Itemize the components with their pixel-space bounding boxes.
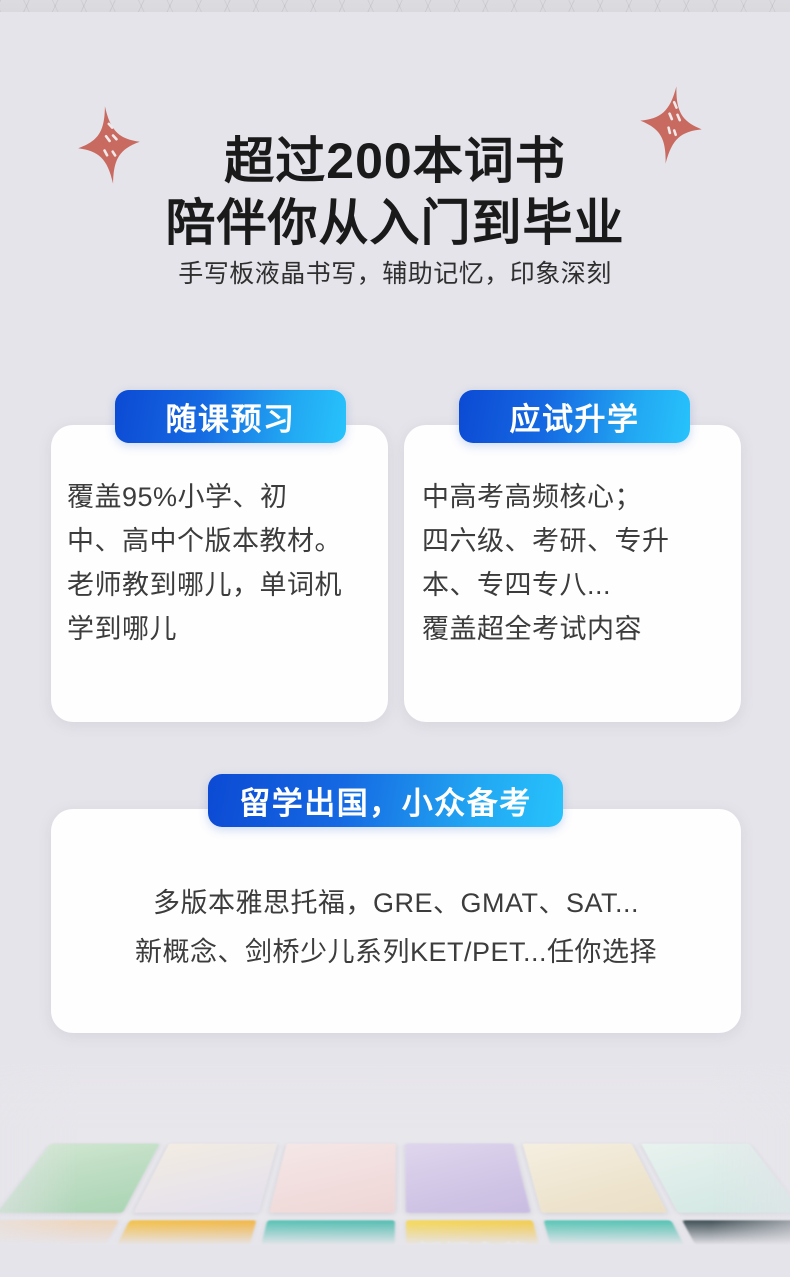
badge-abroad-label: 留学出国，小众备考 bbox=[239, 778, 532, 823]
badge-exam: 应试升学 bbox=[459, 390, 690, 443]
card-exam-line-3: 本、专四专八... bbox=[422, 563, 670, 607]
promo-page: 超过200本词书 陪伴你从入门到毕业 手写板液晶书写，辅助记忆，印象深刻 随课预… bbox=[0, 0, 790, 1277]
page-title-line-2: 陪伴你从入门到毕业 bbox=[0, 192, 790, 254]
book-cover bbox=[405, 1144, 531, 1213]
book-cover-grid: 英语英 语CET-4新概念英语1四级词汇 bbox=[0, 1144, 790, 1245]
book-cover-title: 新概念英语1 bbox=[406, 1235, 552, 1245]
book-cover bbox=[269, 1144, 395, 1213]
card-preview-line-4: 学到哪儿 bbox=[67, 607, 342, 651]
card-exam-line-2: 四六级、考研、专升 bbox=[422, 519, 670, 563]
bottom-padding bbox=[0, 1245, 790, 1277]
feature-card-exam-body: 中高考高频核心； 四六级、考研、专升 本、专四专八... 覆盖超全考试内容 bbox=[422, 475, 670, 651]
page-title: 超过200本词书 陪伴你从入门到毕业 bbox=[0, 130, 790, 254]
book-cover: 英语 bbox=[0, 1220, 118, 1245]
book-cover bbox=[0, 1144, 159, 1213]
top-texture-sliver bbox=[0, 0, 790, 12]
book-cover-photo-strip: 英语英 语CET-4新概念英语1四级词汇 bbox=[0, 1063, 790, 1245]
page-title-line-1: 超过200本词书 bbox=[0, 130, 790, 192]
card-exam-line-1: 中高考高频核心； bbox=[422, 475, 670, 519]
badge-preview: 随课预习 bbox=[115, 390, 346, 443]
feature-card-preview-body: 覆盖95%小学、初 中、高中个版本教材。 老师教到哪儿，单词机 学到哪儿 bbox=[67, 475, 342, 651]
book-cover bbox=[523, 1144, 667, 1213]
badge-preview-label: 随课预习 bbox=[166, 394, 296, 439]
book-cover bbox=[682, 1220, 790, 1245]
book-cover bbox=[641, 1144, 790, 1213]
feature-card-abroad-body: 多版本雅思托福，GRE、GMAT、SAT... 新概念、剑桥少儿系列KET/PE… bbox=[51, 879, 741, 977]
card-abroad-line-2: 新概念、剑桥少儿系列KET/PET...任你选择 bbox=[51, 928, 741, 977]
page-subtitle: 手写板液晶书写，辅助记忆，印象深刻 bbox=[0, 257, 790, 291]
badge-exam-label: 应试升学 bbox=[510, 394, 640, 439]
book-cover bbox=[133, 1144, 277, 1213]
book-cover: 新概念英语1 bbox=[405, 1220, 557, 1245]
card-preview-line-2: 中、高中个版本教材。 bbox=[67, 519, 342, 563]
badge-abroad: 留学出国，小众备考 bbox=[208, 774, 563, 827]
card-exam-line-4: 覆盖超全考试内容 bbox=[422, 607, 670, 651]
card-abroad-line-1: 多版本雅思托福，GRE、GMAT、SAT... bbox=[51, 879, 741, 928]
card-preview-line-1: 覆盖95%小学、初 bbox=[67, 475, 342, 519]
book-cover: CET-4 bbox=[243, 1220, 395, 1245]
card-preview-line-3: 老师教到哪儿，单词机 bbox=[67, 563, 342, 607]
